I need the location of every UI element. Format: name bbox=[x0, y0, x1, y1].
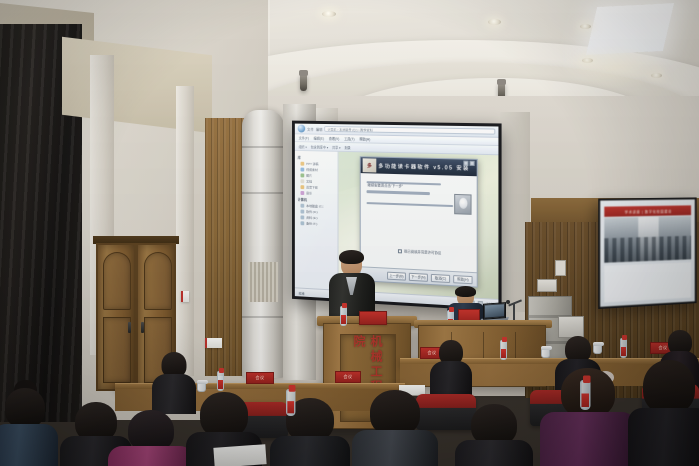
name-placard: 会议 bbox=[246, 372, 274, 384]
red-folder bbox=[359, 311, 387, 325]
audience-person bbox=[628, 360, 699, 466]
cancel-button[interactable]: 取消(C) bbox=[431, 273, 450, 282]
person-head bbox=[5, 388, 45, 428]
track-spotlight-icon bbox=[300, 74, 307, 91]
sidebar-item-pictures[interactable]: 图片 bbox=[300, 172, 335, 178]
main-projection-screen[interactable]: 文件 编辑 计算机 › 本地磁盘 (D:) › 教学资料 文件(F) 编辑(E)… bbox=[292, 121, 502, 312]
window-controls[interactable] bbox=[463, 161, 474, 166]
webpage-body bbox=[604, 262, 691, 302]
light-glow bbox=[560, 45, 670, 89]
music-icon bbox=[300, 191, 304, 195]
speaker-hair bbox=[339, 250, 364, 264]
folder-icon bbox=[300, 161, 304, 165]
drive-icon bbox=[300, 221, 304, 225]
notepaper bbox=[213, 444, 266, 466]
wooden-double-door[interactable] bbox=[96, 243, 136, 391]
toolbar-share[interactable]: 共享 ▾ bbox=[332, 144, 341, 149]
license-agree-checkbox[interactable]: 我已阅读并同意许可协议 bbox=[398, 248, 441, 255]
audience-person bbox=[352, 390, 438, 466]
sidebar-item-music[interactable]: 音乐 bbox=[300, 190, 335, 196]
menu-tools[interactable]: 工具(T) bbox=[344, 136, 354, 141]
wall-pilaster bbox=[176, 86, 194, 376]
downlight-icon bbox=[488, 19, 501, 25]
person-torso bbox=[455, 440, 533, 466]
folder-icon bbox=[300, 167, 304, 171]
water-bottle bbox=[580, 380, 591, 410]
next-button[interactable]: 下一步(N) bbox=[409, 272, 428, 281]
titlebar-item[interactable]: 文件 bbox=[307, 126, 314, 131]
wall-notice bbox=[181, 291, 189, 302]
folder-icon bbox=[300, 185, 304, 189]
water-bottle bbox=[500, 340, 507, 360]
checkbox-label: 我已阅读并同意许可协议 bbox=[404, 248, 441, 255]
tea-cup bbox=[541, 348, 550, 358]
downlight-icon bbox=[322, 11, 336, 17]
sidebar-item-label: 视频素材 bbox=[306, 167, 318, 172]
app-body: 库 PPT 讲稿 视频素材 图片 文档 bbox=[295, 151, 499, 299]
sidebar-item-label: 本地磁盘 (C:) bbox=[306, 203, 323, 209]
toolbar-organize[interactable]: 组织 ▾ bbox=[299, 144, 307, 149]
toolbar-burn[interactable]: 刻录 bbox=[344, 145, 350, 150]
light-switch[interactable] bbox=[555, 260, 566, 276]
tea-cup bbox=[197, 382, 206, 392]
menu-edit[interactable]: 编辑(E) bbox=[314, 136, 324, 141]
person-head bbox=[643, 360, 695, 414]
office-orb-icon[interactable] bbox=[298, 125, 306, 133]
person-torso bbox=[0, 424, 58, 466]
gooseneck-microphone bbox=[506, 300, 523, 322]
banner-text: 学术讲座 | 数字化校园建设 bbox=[625, 208, 672, 214]
sidebar-item-label: 资料 (E:) bbox=[306, 215, 317, 220]
sidebar-item-label: PPT 讲稿 bbox=[306, 161, 318, 166]
address-bar[interactable]: 计算机 › 本地磁盘 (D:) › 教学资料 bbox=[325, 126, 496, 135]
person-torso bbox=[352, 430, 438, 466]
status-text: 就绪 bbox=[299, 290, 305, 295]
water-bottle bbox=[286, 389, 295, 416]
microphone-head-icon bbox=[506, 300, 510, 304]
sidebar-item-label: 音乐 bbox=[306, 190, 312, 195]
sidebar-group-label: 库 bbox=[298, 155, 336, 161]
control-box bbox=[558, 316, 584, 338]
door-handle-icon[interactable] bbox=[141, 322, 144, 333]
wall-notice bbox=[205, 338, 222, 348]
laptop-lid bbox=[483, 302, 506, 320]
sidebar-item-label: 图片 bbox=[306, 173, 312, 178]
minimize-icon[interactable] bbox=[463, 161, 468, 166]
drive-icon bbox=[300, 209, 304, 213]
toolbar-include[interactable]: 包含到库中 ▾ bbox=[311, 144, 329, 149]
audience-person bbox=[270, 398, 350, 466]
water-bottle bbox=[620, 338, 627, 358]
dialog-body: 我已阅读并同意许可协议 继续安装请点击“下一步” bbox=[361, 173, 477, 208]
person-torso bbox=[540, 412, 636, 466]
name-placard: 会议 bbox=[335, 371, 361, 383]
wall-plate bbox=[537, 279, 557, 292]
setup-welcome-dialog[interactable]: 多 多功能读卡器软件 v5.05 安装 bbox=[360, 156, 478, 287]
projected-desktop: 文件 编辑 计算机 › 本地磁盘 (D:) › 教学资料 文件(F) 编辑(E)… bbox=[295, 124, 499, 309]
installer-illustration bbox=[454, 194, 471, 215]
audience-person bbox=[0, 386, 58, 466]
menu-view[interactable]: 查看(V) bbox=[329, 136, 340, 141]
drive-icon bbox=[300, 203, 304, 207]
air-conditioning-column bbox=[242, 110, 284, 378]
dialog-text-line bbox=[367, 191, 431, 195]
menu-file[interactable]: 文件(F) bbox=[299, 135, 309, 140]
audience-person bbox=[455, 404, 533, 466]
lecture-hall-photo: 文件 编辑 计算机 › 本地磁盘 (D:) › 教学资料 文件(F) 编辑(E)… bbox=[0, 0, 699, 466]
help-button[interactable]: 帮助(H) bbox=[453, 275, 472, 284]
laptop-screen bbox=[485, 304, 504, 317]
menu-help[interactable]: 帮助(H) bbox=[359, 136, 370, 141]
close-icon[interactable] bbox=[470, 161, 475, 166]
water-bottle bbox=[217, 371, 224, 391]
back-button[interactable]: 上一步(B) bbox=[387, 271, 406, 280]
door-handle-icon[interactable] bbox=[128, 322, 131, 333]
sidebar-item-drive-f[interactable]: 备份 (F:) bbox=[300, 220, 335, 226]
dialog-footer-note: 继续安装请点击“下一步” bbox=[368, 182, 404, 188]
person-torso bbox=[628, 408, 699, 466]
conference-room-photo bbox=[604, 216, 691, 263]
checkbox-icon[interactable] bbox=[398, 249, 402, 253]
person-torso bbox=[270, 436, 350, 466]
document-icon bbox=[300, 179, 304, 183]
sidebar-item-ppt[interactable]: PPT 讲稿 bbox=[300, 161, 335, 167]
drive-icon bbox=[300, 215, 304, 219]
staff-hair bbox=[455, 286, 476, 297]
sidebar-item-label: 迅雷下载 bbox=[306, 184, 318, 189]
dialog-text-line bbox=[367, 202, 454, 207]
secondary-projection-screen[interactable]: 学术讲座 | 数字化校园建设 bbox=[598, 197, 696, 309]
water-bottle bbox=[340, 306, 347, 326]
dialog-title: 多功能读卡器软件 v5.05 安装 bbox=[378, 162, 470, 171]
ac-vent-grille bbox=[248, 262, 278, 302]
sidebar-item-label: 文档 bbox=[306, 178, 312, 183]
secondary-screen-content: 学术讲座 | 数字化校园建设 bbox=[600, 199, 695, 306]
person-torso bbox=[108, 446, 194, 466]
sidebar-item-label: 备份 (F:) bbox=[306, 221, 317, 226]
titlebar-item[interactable]: 编辑 bbox=[316, 126, 323, 131]
downlight-icon bbox=[580, 24, 591, 29]
sidebar-item-label: 软件 (D:) bbox=[306, 209, 318, 214]
sidebar-item-video[interactable]: 视频素材 bbox=[300, 167, 335, 173]
audience-person bbox=[108, 410, 194, 466]
webpage-banner: 学术讲座 | 数字化校园建设 bbox=[604, 205, 691, 217]
picture-icon bbox=[300, 173, 304, 177]
installer-logo-icon: 多 bbox=[363, 158, 377, 172]
